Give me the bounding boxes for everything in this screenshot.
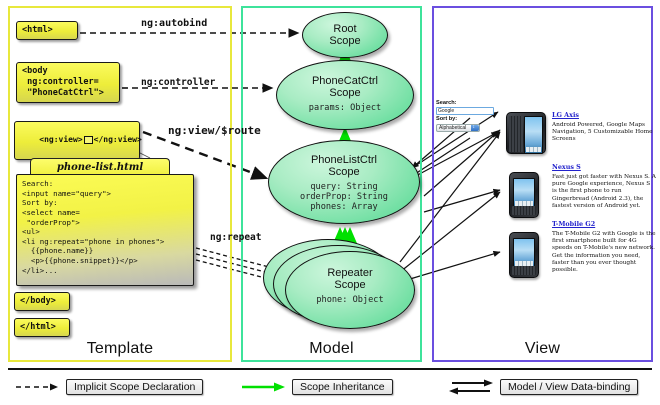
scope-repeater-stack: Repeater Scope phone: Object [263,235,423,331]
scope-phonelistctrl-name: PhoneListCtrl Scope [269,154,419,179]
body-close-tag-box: </body> [14,292,70,311]
search-label: Search: [436,100,498,107]
scope-phonelistctrl: PhoneListCtrl Scope query: String orderP… [268,140,420,224]
phone-screen [524,116,543,154]
legend-label: Model / View Data-binding [500,379,638,395]
double-arrow-icon [448,379,494,395]
phone-thumbnail-1 [506,112,546,154]
phone-keyboard [512,266,536,275]
sort-select-value: Alphabetical [439,125,466,131]
legend-item-implicit-scope-declaration: Implicit Scope Declaration [14,378,203,396]
ngview-tag-box: <ng:view></ng:view> [14,121,140,160]
scope-phonecatctrl-name: PhoneCatCtrl Scope [277,75,413,100]
partial-callout-box: phone-list.html Search: <input name="que… [16,158,194,286]
scope-root-name: Root Scope [303,23,387,48]
scope-repeater: Repeater Scope phone: Object [285,251,415,329]
scope-root: Root Scope [302,12,388,58]
label-ng-view-route: ng:view/$route [168,124,261,137]
sort-select[interactable]: Alphabetical [436,124,480,132]
scope-phonelistctrl-props: query: String orderProp: String phones: … [269,182,419,213]
phone-list-item: LG Axis Android Powered, Google Maps Nav… [552,111,656,144]
placeholder-square-icon [84,136,93,144]
phone-screen [513,238,535,268]
sort-label: Sort by: [436,116,498,123]
ngview-close: </ng:view> [94,135,142,144]
html-close-tag-box: </html> [14,318,70,337]
legend-item-scope-inheritance: Scope Inheritance [240,378,393,396]
scope-phonecatctrl: PhoneCatCtrl Scope params: Object [276,60,414,130]
phone-name-link[interactable]: T-Mobile G2 [552,220,656,228]
phone-snippet: The T-Mobile G2 with Google is the first… [552,231,656,274]
phone-name-link[interactable]: Nexus S [552,163,656,171]
legend-label: Implicit Scope Declaration [66,379,203,395]
phone-keyboard [512,206,536,215]
phone-snippet: Fast just got faster with Nexus S. A pur… [552,174,656,210]
legend-divider [8,368,652,370]
legend: Implicit Scope Declaration Scope Inherit… [0,366,660,405]
body-tag-box: <body ng:controller= "PhoneCatCtrl"> [16,62,120,103]
phone-list-item: T-Mobile G2 The T-Mobile G2 with Google … [552,220,656,274]
column-label-template: Template [10,340,230,358]
chevron-updown-icon [471,125,479,131]
phone-keyboard [509,116,523,152]
phone-body [506,112,546,154]
phone-body [509,232,539,278]
scope-repeater-name: Repeater Scope [286,267,414,292]
ngview-open: <ng:view> [39,135,82,144]
phone-body [509,172,539,218]
legend-label: Scope Inheritance [292,379,393,395]
label-ng-repeat: ng:repeat [210,232,261,243]
search-form: Search: Google Sort by: Alphabetical [436,100,498,132]
green-arrow-icon [240,381,286,393]
phone-name-link[interactable]: LG Axis [552,111,656,119]
phone-screen [513,178,535,208]
scope-phonecatctrl-props: params: Object [277,103,413,113]
phone-thumbnail-2 [509,172,539,218]
legend-item-model-view-data-binding: Model / View Data-binding [448,378,638,396]
phone-thumbnail-3 [509,232,539,278]
diagram-canvas: Template <html> <body ng:controller= "Ph… [0,0,660,405]
dashed-arrow-icon [14,381,60,393]
search-input[interactable]: Google [436,107,494,115]
scope-repeater-props: phone: Object [286,295,414,305]
label-ng-controller: ng:controller [141,77,215,88]
column-label-model: Model [243,340,420,358]
phone-snippet: Android Powered, Google Maps Navigation,… [552,122,656,144]
html-tag-box: <html> [16,21,78,40]
phone-list-item: Nexus S Fast just got faster with Nexus … [552,163,656,210]
column-label-view: View [434,340,651,358]
partial-code: Search: <input name="query"> Sort by: <s… [16,174,194,286]
label-ng-autobind: ng:autobind [141,18,207,29]
